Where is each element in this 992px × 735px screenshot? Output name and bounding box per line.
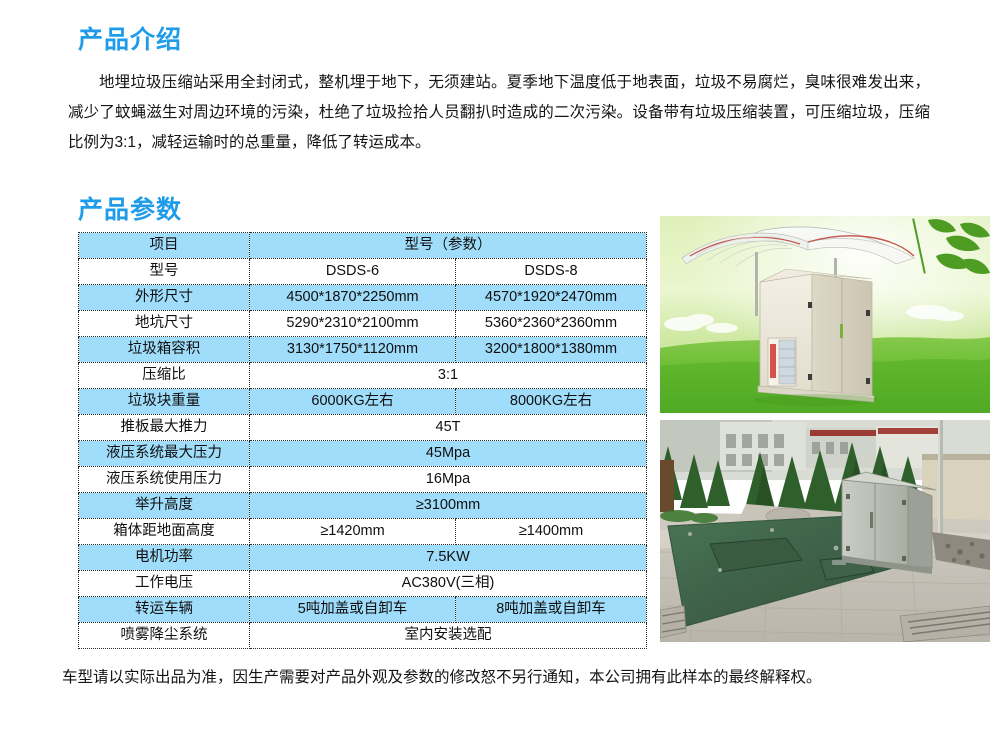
param-name-cell: 垃圾箱容积 — [79, 337, 250, 363]
param-name-cell: 型号 — [79, 259, 250, 285]
installed-site-photo — [660, 420, 990, 642]
param-value-cell-dsds6: 45Mpa — [250, 441, 647, 467]
header-cell-item: 项目 — [79, 233, 250, 259]
table-row: 箱体距地面高度≥1420mm≥1400mm — [79, 519, 647, 545]
param-name-cell: 喷雾降尘系统 — [79, 623, 250, 649]
param-value-cell-dsds8: 8吨加盖或自卸车 — [456, 597, 647, 623]
param-value-cell-dsds8: 8000KG左右 — [456, 389, 647, 415]
station-photo-artwork — [660, 216, 990, 413]
table-row: 地坑尺寸5290*2310*2100mm5360*2360*2360mm — [79, 311, 647, 337]
param-value-cell-dsds8: 4570*1920*2470mm — [456, 285, 647, 311]
param-name-cell: 工作电压 — [79, 571, 250, 597]
footer-disclaimer-note: 车型请以实际出品为准，因生产需要对产品外观及参数的修改怒不另行通知，本公司拥有此… — [62, 666, 942, 690]
table-row: 液压系统最大压力45Mpa — [79, 441, 647, 467]
param-name-cell: 液压系统最大压力 — [79, 441, 250, 467]
param-value-cell-dsds6: 5290*2310*2100mm — [250, 311, 456, 337]
param-value-cell-dsds6: ≥3100mm — [250, 493, 647, 519]
table-row: 型号DSDS-6DSDS-8 — [79, 259, 647, 285]
table-row: 工作电压AC380V(三相) — [79, 571, 647, 597]
param-value-cell-dsds6: 6000KG左右 — [250, 389, 456, 415]
table-row: 电机功率7.5KW — [79, 545, 647, 571]
table-row: 转运车辆5吨加盖或自卸车8吨加盖或自卸车 — [79, 597, 647, 623]
table-row: 垃圾块重量6000KG左右8000KG左右 — [79, 389, 647, 415]
param-name-cell: 外形尺寸 — [79, 285, 250, 311]
param-name-cell: 压缩比 — [79, 363, 250, 389]
param-value-cell-dsds6: AC380V(三相) — [250, 571, 647, 597]
param-name-cell: 地坑尺寸 — [79, 311, 250, 337]
param-name-cell: 举升高度 — [79, 493, 250, 519]
table-row: 液压系统使用压力16Mpa — [79, 467, 647, 493]
params-table: 项目 型号（参数） 型号DSDS-6DSDS-8外形尺寸4500*1870*22… — [78, 232, 647, 649]
installed-site-artwork — [660, 420, 990, 642]
table-row: 推板最大推力45T — [79, 415, 647, 441]
param-value-cell-dsds6: DSDS-6 — [250, 259, 456, 285]
param-value-cell-dsds6: 5吨加盖或自卸车 — [250, 597, 456, 623]
param-value-cell-dsds8: 5360*2360*2360mm — [456, 311, 647, 337]
intro-section-heading: 产品介绍 — [78, 28, 182, 53]
param-value-cell-dsds6: ≥1420mm — [250, 519, 456, 545]
param-name-cell: 转运车辆 — [79, 597, 250, 623]
params-section-heading: 产品参数 — [78, 198, 182, 223]
param-value-cell-dsds6: 45T — [250, 415, 647, 441]
table-row: 喷雾降尘系统室内安装选配 — [79, 623, 647, 649]
table-row: 垃圾箱容积3130*1750*1120mm3200*1800*1380mm — [79, 337, 647, 363]
intro-paragraph: 地埋垃圾压缩站采用全封闭式，整机埋于地下，无须建站。夏季地下温度低于地表面，垃圾… — [68, 68, 930, 158]
param-value-cell-dsds6: 7.5KW — [250, 545, 647, 571]
header-cell-model: 型号（参数） — [250, 233, 647, 259]
param-name-cell: 液压系统使用压力 — [79, 467, 250, 493]
param-value-cell-dsds8: ≥1400mm — [456, 519, 647, 545]
param-value-cell-dsds6: 16Mpa — [250, 467, 647, 493]
table-header-row: 项目 型号（参数） — [79, 233, 647, 259]
params-table-container: 项目 型号（参数） 型号DSDS-6DSDS-8外形尺寸4500*1870*22… — [78, 232, 646, 649]
param-value-cell-dsds6: 3130*1750*1120mm — [250, 337, 456, 363]
station-with-canopy-photo — [660, 216, 990, 413]
param-value-cell-dsds8: DSDS-8 — [456, 259, 647, 285]
param-name-cell: 垃圾块重量 — [79, 389, 250, 415]
table-row: 压缩比3:1 — [79, 363, 647, 389]
param-value-cell-dsds6: 4500*1870*2250mm — [250, 285, 456, 311]
product-spec-page: 产品介绍 地埋垃圾压缩站采用全封闭式，整机埋于地下，无须建站。夏季地下温度低于地… — [0, 0, 992, 735]
param-value-cell-dsds6: 室内安装选配 — [250, 623, 647, 649]
param-value-cell-dsds8: 3200*1800*1380mm — [456, 337, 647, 363]
table-row: 举升高度≥3100mm — [79, 493, 647, 519]
param-name-cell: 推板最大推力 — [79, 415, 250, 441]
param-name-cell: 箱体距地面高度 — [79, 519, 250, 545]
param-value-cell-dsds6: 3:1 — [250, 363, 647, 389]
param-name-cell: 电机功率 — [79, 545, 250, 571]
params-table-body: 项目 型号（参数） 型号DSDS-6DSDS-8外形尺寸4500*1870*22… — [79, 233, 647, 649]
table-row: 外形尺寸4500*1870*2250mm4570*1920*2470mm — [79, 285, 647, 311]
